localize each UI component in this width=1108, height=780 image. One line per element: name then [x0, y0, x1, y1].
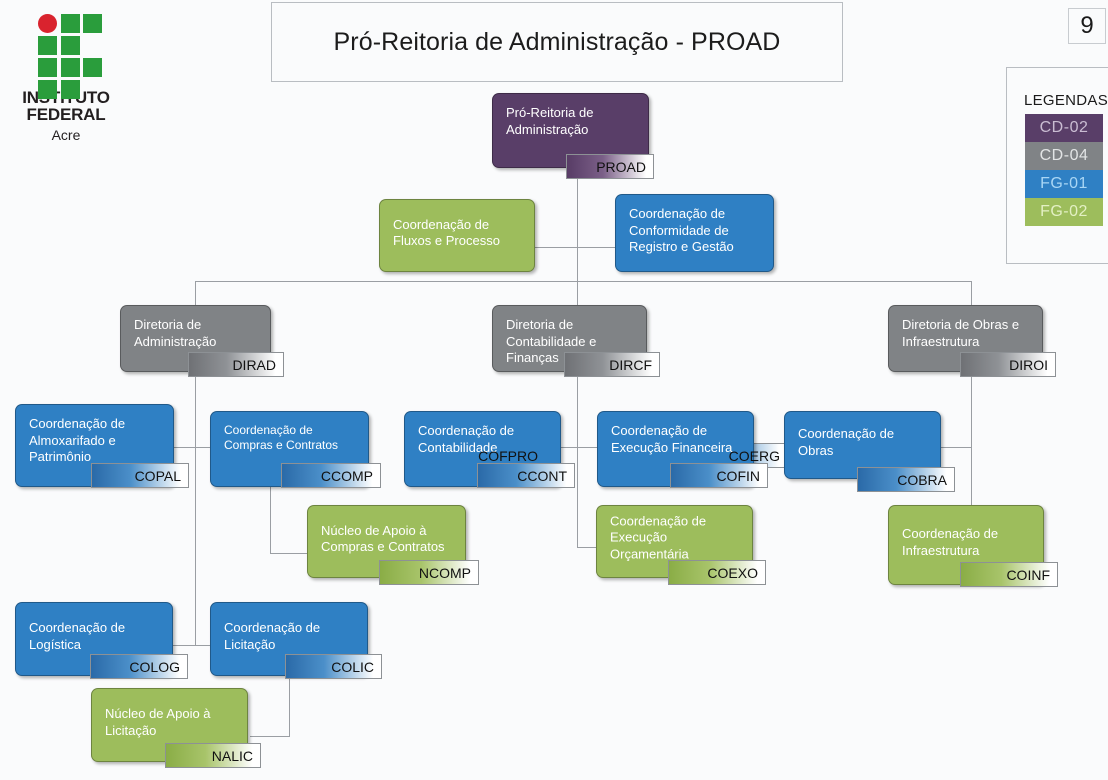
node-coerg-label: Coordenação de Conformidade de Registro …: [629, 206, 763, 256]
node-ncomp-acronym: NCOMP: [379, 560, 479, 585]
if-logo-icon: [30, 6, 102, 86]
legend-item-fg01: FG-01: [1025, 170, 1103, 198]
node-cobra-acronym: COBRA: [857, 467, 955, 492]
connector-cobra: [940, 447, 972, 448]
node-ccomp[interactable]: Coordenação de Compras e Contratos CCOMP: [210, 411, 369, 487]
org-chart-page: 9 INSTITUTO FEDERAL Acre Pró-Reitoria de…: [0, 0, 1108, 780]
legend-item-cd04: CD-04: [1025, 142, 1103, 170]
connector-colic-drop: [289, 676, 290, 736]
node-ccomp-acronym: CCOMP: [281, 463, 381, 488]
node-dirad-label: Diretoria de Administração: [134, 317, 260, 350]
node-proad-acronym: PROAD: [566, 154, 654, 179]
node-nalic-label: Núcleo de Apoio à Licitação: [105, 706, 237, 739]
node-ccomp-label: Coordenação de Compras e Contratos: [224, 423, 358, 453]
node-coexo[interactable]: Coordenação de Execução Orçamentária COE…: [596, 505, 753, 578]
institution-logo: INSTITUTO FEDERAL Acre: [10, 6, 122, 143]
connector-coexo: [577, 547, 597, 548]
node-cofin-acronym: COFIN: [670, 463, 768, 488]
node-coinf[interactable]: Coordenação de Infraestrutura COINF: [888, 505, 1044, 585]
legend-panel: LEGENDAS CD-02 CD-04 FG-01 FG-02: [1006, 67, 1108, 264]
node-diroi-label: Diretoria de Obras e Infraestrutura: [902, 317, 1032, 350]
node-coinf-acronym: COINF: [960, 562, 1058, 587]
page-title-text: Pró-Reitoria de Administração - PROAD: [334, 28, 781, 57]
node-copal[interactable]: Coordenação de Almoxarifado e Patrimônio…: [15, 404, 174, 487]
node-colog-label: Coordenação de Logística: [29, 620, 162, 653]
node-cofpro-label: Coordenação de Fluxos e Processo: [393, 216, 524, 249]
legend-items: CD-02 CD-04 FG-01 FG-02: [1007, 114, 1108, 226]
node-dircf[interactable]: Diretoria de Contabilidade e Finanças DI…: [492, 305, 647, 372]
connector-copal: [173, 447, 196, 448]
node-cobra[interactable]: Coordenação de Obras COBRA: [784, 411, 941, 479]
node-cobra-label: Coordenação de Obras: [798, 426, 930, 459]
connector-cofin: [577, 447, 597, 448]
connector-dircf-drop: [577, 281, 578, 305]
node-dirad-acronym: DIRAD: [188, 352, 284, 377]
node-colic[interactable]: Coordenação de Licitação COLIC: [210, 602, 368, 676]
legend-item-cd02: CD-02: [1025, 114, 1103, 142]
node-ncomp[interactable]: Núcleo de Apoio à Compras e Contratos NC…: [307, 505, 466, 578]
legend-title: LEGENDAS: [1007, 92, 1108, 109]
node-colog[interactable]: Coordenação de Logística COLOG: [15, 602, 173, 676]
connector-nalic: [250, 736, 290, 737]
connector-diroi-drop: [971, 281, 972, 305]
logo-line-2: FEDERAL: [10, 106, 122, 123]
connector-dirad-spine: [195, 372, 196, 645]
connector-ccomp-drop: [270, 487, 271, 553]
node-proad[interactable]: Pró-Reitoria de Administração PROAD: [492, 93, 649, 168]
node-nalic-acronym: NALIC: [165, 743, 261, 768]
connector-cofpro: [535, 247, 578, 248]
node-copal-acronym: COPAL: [91, 463, 189, 488]
page-title: Pró-Reitoria de Administração - PROAD: [271, 2, 843, 82]
page-number: 9: [1068, 8, 1106, 44]
node-colic-label: Coordenação de Licitação: [224, 620, 357, 653]
node-copal-label: Coordenação de Almoxarifado e Patrimônio: [29, 416, 163, 466]
legend-item-fg02: FG-02: [1025, 198, 1103, 226]
node-coerg[interactable]: Coordenação de Conformidade de Registro …: [615, 194, 774, 272]
node-coinf-label: Coordenação de Infraestrutura: [902, 526, 1033, 559]
connector-ncomp: [270, 553, 310, 554]
node-nalic[interactable]: Núcleo de Apoio à Licitação NALIC: [91, 688, 248, 762]
node-colog-acronym: COLOG: [90, 654, 188, 679]
node-ncomp-label: Núcleo de Apoio à Compras e Contratos: [321, 522, 455, 555]
connector-dircf-spine: [577, 372, 578, 547]
node-diroi-acronym: DIROI: [960, 352, 1056, 377]
node-diroi[interactable]: Diretoria de Obras e Infraestrutura DIRO…: [888, 305, 1043, 372]
connector-dirad-drop: [195, 281, 196, 305]
connector-directorate-bus: [195, 281, 971, 282]
connector-colog: [173, 645, 196, 646]
node-cofpro[interactable]: Coordenação de Fluxos e Processo COFPRO: [379, 199, 535, 272]
node-dircf-acronym: DIRCF: [564, 352, 660, 377]
connector-proad-trunk: [577, 168, 578, 281]
node-coexo-label: Coordenação de Execução Orçamentária: [610, 513, 742, 563]
logo-campus: Acre: [10, 127, 122, 143]
node-colic-acronym: COLIC: [285, 654, 382, 679]
node-coexo-acronym: COEXO: [668, 560, 766, 585]
node-dirad[interactable]: Diretoria de Administração DIRAD: [120, 305, 271, 372]
node-cofin-label: Coordenação de Execução Financeira: [611, 423, 743, 456]
node-proad-label: Pró-Reitoria de Administração: [506, 105, 638, 138]
node-ccont-acronym: CCONT: [477, 463, 575, 488]
